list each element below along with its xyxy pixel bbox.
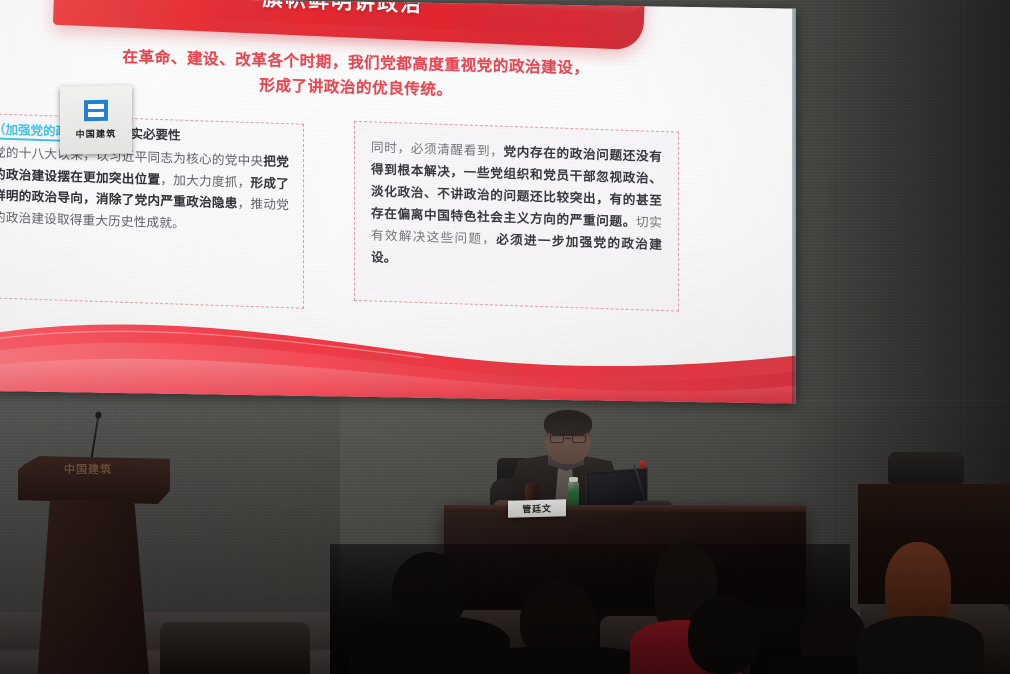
podium-brand-sign: 中国建筑 <box>60 85 132 154</box>
podium-sign-text: 中国建筑 <box>76 127 117 141</box>
slide-left-textbox: （加强党的政治建设）现实必要性 党的十八大以来，以习近平同志为核心的党中央把党的… <box>0 113 304 309</box>
speaker-name: 管廷文 <box>522 502 551 516</box>
lecture-hall-photo: 旗帜鲜明讲政治 在革命、建设、改革各个时期，我们党都高度重视党的政治建设， 形成… <box>0 0 1010 674</box>
slide-ribbon-decoration <box>0 295 796 404</box>
empty-chair-headrest <box>888 452 964 484</box>
glasses-lens-right <box>572 435 586 443</box>
podium-top: 中国建筑 <box>18 456 170 504</box>
desk-microphone <box>631 459 634 505</box>
screen-right-edge <box>792 9 796 404</box>
slide-canvas: 旗帜鲜明讲政治 在革命、建设、改革各个时期，我们党都高度重视党的政治建设， 形成… <box>0 0 796 404</box>
slide-right-textbox: 同时，必须清醒看到，党内存在的政治问题还没有得到根本解决，一些党组织和党员干部忽… <box>354 121 679 312</box>
podium-engraving: 中国建筑 <box>64 462 156 492</box>
speaker-glasses-icon <box>550 435 586 443</box>
glasses-bridge <box>565 438 571 439</box>
left-box-paragraph: 党的十八大以来，以习近平同志为核心的党中央把党的政治建设摆在更加突出位置，加大力… <box>0 141 289 237</box>
audience-person-head <box>688 596 760 674</box>
glasses-lens-left <box>550 435 564 443</box>
speaker-hair <box>544 410 592 436</box>
speaker-nameplate: 管廷文 <box>508 499 566 518</box>
audience-foreground <box>0 524 1010 674</box>
red-wave-ribbon-icon <box>0 299 796 404</box>
right-b1: 党内存在的政治问题还没有得到根本解决，一些党组织和党员干部忽视政治、淡化政治、不… <box>371 144 662 229</box>
audience-seat <box>160 622 310 674</box>
table-top-edge <box>444 505 806 512</box>
projection-screen: 旗帜鲜明讲政治 在革命、建设、改革各个时期，我们党都高度重视党的政治建设， 形成… <box>0 0 796 404</box>
right-box-paragraph: 同时，必须清醒看到，党内存在的政治问题还没有得到根本解决，一些党组织和党员干部忽… <box>371 136 662 278</box>
cscec-logo-icon <box>84 100 108 121</box>
audience-person-shoulders <box>478 646 644 674</box>
audience-person-shoulders <box>858 616 984 674</box>
left-p2: ，加大力度抓， <box>160 171 250 189</box>
right-p1: 同时，必须清醒看到， <box>371 139 503 158</box>
